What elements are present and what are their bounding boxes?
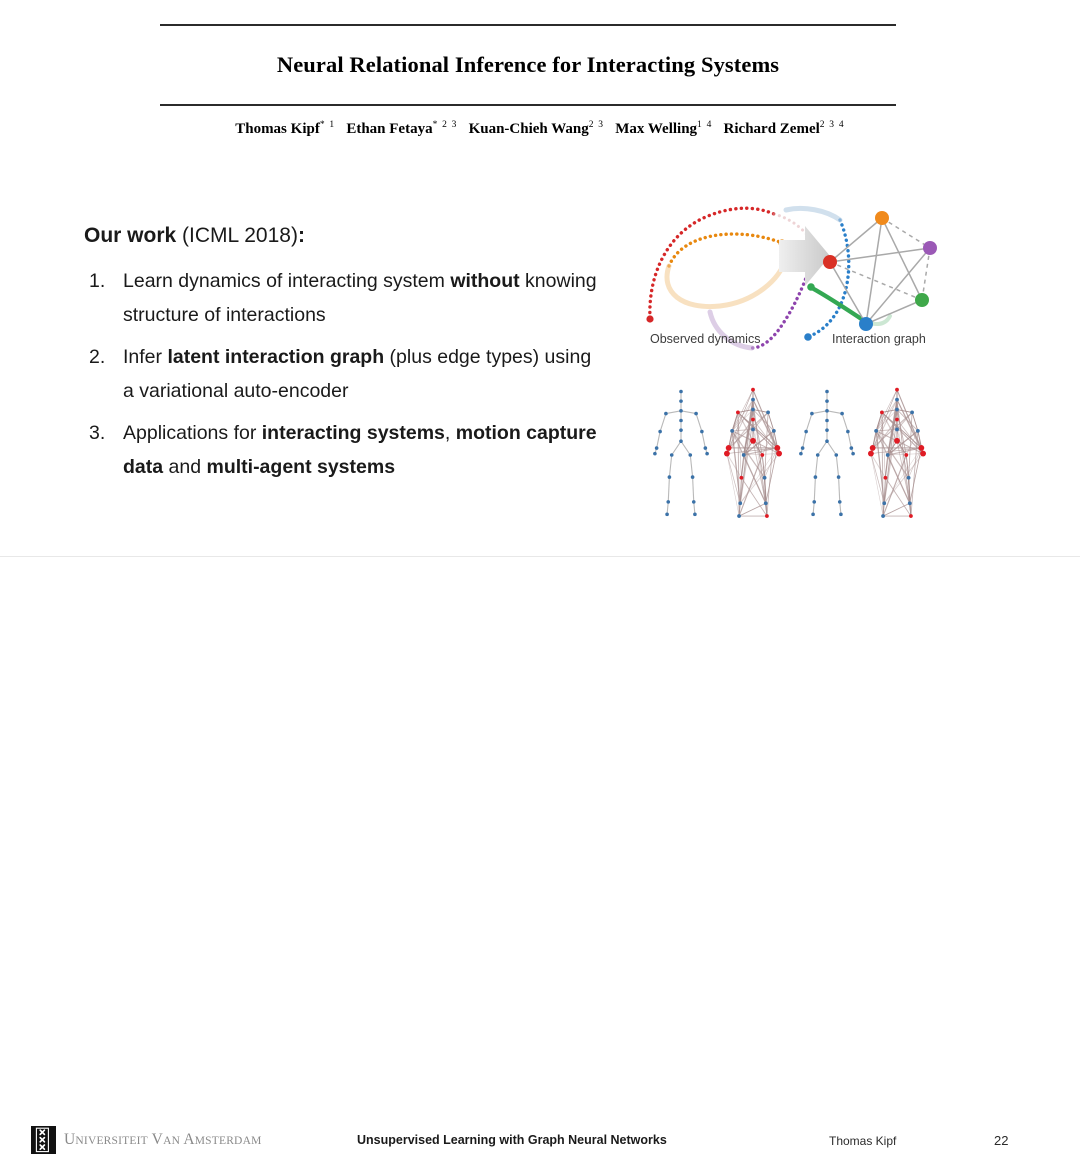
author-name: Kuan-Chieh Wang: [469, 121, 589, 137]
mocap-joint: [870, 445, 876, 451]
mocap-joint: [916, 429, 920, 433]
list-item-emphasis: latent interaction graph: [167, 346, 384, 368]
mocap-joint: [894, 438, 900, 444]
paper-header-block: Neural Relational Inference for Interact…: [160, 24, 896, 106]
mocap-joint: [751, 388, 755, 392]
list-item-text: Learn dynamics of interacting system: [123, 270, 450, 292]
mocap-bone: [815, 455, 817, 477]
mocap-joint: [679, 409, 683, 413]
mocap-joint: [874, 429, 878, 433]
mocap-joint: [765, 514, 769, 518]
mocap-joint: [692, 500, 696, 504]
mocap-joint: [700, 430, 704, 434]
mocap-joint: [740, 476, 744, 480]
graph-node-blue: [859, 317, 873, 331]
mocap-bone: [813, 502, 814, 514]
trajectory-green: [812, 288, 866, 322]
mocap-joint: [751, 398, 755, 402]
author-name: Ethan Fetaya: [346, 121, 432, 137]
mocap-bone: [668, 477, 669, 502]
list-item-text: ,: [445, 422, 456, 444]
mocap-bone: [839, 477, 840, 502]
mocap-joint: [825, 409, 829, 413]
mocap-skeleton: [799, 390, 855, 516]
mocap-joint: [907, 476, 911, 480]
graph-node-orange: [875, 211, 889, 225]
trajectory-green-endpoint: [807, 283, 815, 291]
mocap-joint: [840, 412, 844, 416]
mocap-joint: [850, 446, 854, 450]
graph-edge-solid: [882, 218, 922, 300]
trajectory-orange: [669, 234, 780, 266]
mocap-bone: [660, 414, 666, 432]
content-column-left: Our work (ICML 2018): 1.Learn dynamics o…: [84, 224, 604, 493]
mocap-joint: [811, 513, 815, 517]
list-item: 3.Applications for interacting systems, …: [84, 417, 604, 484]
footer-deck-title: Unsupervised Learning with Graph Neural …: [357, 1133, 667, 1147]
figure-bottom-svg: [646, 380, 936, 532]
mocap-bone: [827, 441, 836, 455]
uva-wordmark-part: U: [64, 1131, 75, 1148]
graph-edge-solid: [866, 300, 922, 324]
mocap-bone: [806, 414, 812, 432]
author-affiliation-marks: * 1: [320, 120, 335, 130]
mocap-joint: [764, 501, 768, 505]
our-work-bold: Our work: [84, 224, 176, 247]
mocap-joint: [846, 430, 850, 434]
mocap-bone: [690, 455, 692, 477]
mocap-graph-edge: [732, 429, 753, 430]
mocap-joint: [868, 451, 874, 457]
mocap-joint: [766, 411, 770, 415]
mocap-joint: [908, 501, 912, 505]
uva-wordmark-part: A: [180, 1131, 195, 1148]
mocap-joint: [691, 475, 695, 479]
points-list: 1.Learn dynamics of interacting system w…: [84, 265, 604, 484]
mocap-bone: [818, 441, 827, 455]
mocap-joint: [895, 398, 899, 402]
mocap-joint: [658, 430, 662, 434]
list-item-text: and: [163, 456, 206, 478]
mocap-joint: [653, 452, 657, 456]
observed-dynamics-trajectories: [646, 208, 890, 348]
mocap-joint: [895, 428, 899, 432]
author-entry: Ethan Fetaya* 2 3: [346, 121, 457, 137]
mocap-joint: [763, 476, 767, 480]
mocap-joint: [751, 418, 755, 422]
mocap-joint: [751, 428, 755, 432]
mocap-joint: [694, 412, 698, 416]
mocap-joint: [904, 453, 908, 457]
mocap-joint: [774, 445, 780, 451]
list-item: 1.Learn dynamics of interacting system w…: [84, 265, 604, 332]
author-name: Richard Zemel: [724, 121, 820, 137]
mocap-joint: [851, 452, 855, 456]
author-affiliation-marks: 2 3: [589, 120, 604, 130]
mocap-joint: [909, 514, 913, 518]
mocap-joint: [825, 399, 829, 403]
mocap-joint: [776, 451, 782, 457]
mocap-joint: [910, 411, 914, 415]
mocap-joint: [839, 513, 843, 517]
uva-logo-wordmark: UNIVERSITEIT VAN AMSTERDAM: [64, 1131, 262, 1149]
graph-node-purple: [923, 241, 937, 255]
trajectory-blue: [810, 220, 849, 336]
mocap-joint: [724, 451, 730, 457]
header-rule-bottom: [160, 104, 896, 106]
mocap-joint: [810, 412, 814, 416]
trajectory-red: [650, 208, 774, 318]
mocap-joint: [812, 500, 816, 504]
mocap-joint: [799, 452, 803, 456]
mocap-joint: [665, 513, 669, 517]
mocap-joint: [838, 500, 842, 504]
uva-logo-icon: [31, 1126, 56, 1154]
our-work-venue: (ICML 2018): [176, 224, 298, 247]
mocap-joint: [679, 428, 683, 432]
mocap-bone: [702, 432, 705, 449]
mocap-bone: [694, 502, 695, 514]
author-name: Max Welling: [615, 121, 697, 137]
uva-wordmark-part: V: [148, 1131, 163, 1148]
mocap-bone: [848, 432, 851, 449]
author-entry: Max Welling1 4: [615, 121, 712, 137]
authors-line: Thomas Kipf* 1Ethan Fetaya* 2 3Kuan-Chie…: [0, 120, 1080, 138]
mocap-bone: [814, 477, 815, 502]
footer-page-number: 22: [994, 1133, 1008, 1148]
footer-bar: UNIVERSITEIT VAN AMSTERDAM Unsupervised …: [0, 557, 1080, 608]
mocap-bone: [840, 502, 841, 514]
mocap-joint: [666, 500, 670, 504]
mocap-joint: [679, 419, 683, 423]
mocap-interaction-graph: [724, 388, 782, 518]
mocap-bone: [836, 455, 838, 477]
mocap-joint: [705, 452, 709, 456]
list-item-emphasis: multi-agent systems: [206, 456, 395, 478]
mocap-joint: [679, 399, 683, 403]
mocap-bone: [657, 432, 660, 449]
list-item-emphasis: interacting systems: [262, 422, 445, 444]
list-item-marker: 2.: [89, 341, 105, 375]
mocap-joint: [825, 390, 829, 394]
author-entry: Richard Zemel2 3 4: [724, 121, 845, 137]
mocap-joint: [801, 446, 805, 450]
list-item-text: Applications for: [123, 422, 262, 444]
mocap-bone: [681, 441, 690, 455]
mocap-joint: [825, 439, 829, 443]
mocap-joint: [895, 418, 899, 422]
mocap-joint: [880, 411, 884, 415]
mocap-joint: [825, 419, 829, 423]
mocap-joint: [760, 453, 764, 457]
uva-wordmark-part: MSTERDAM: [195, 1135, 262, 1147]
mocap-joint: [726, 445, 732, 451]
our-work-colon: :: [298, 224, 305, 247]
mocap-joint: [804, 430, 808, 434]
mocap-joint: [814, 475, 818, 479]
mocap-joint: [693, 513, 697, 517]
mocap-joint: [688, 453, 692, 457]
mocap-joint: [738, 501, 742, 505]
mocap-joint: [730, 429, 734, 433]
mocap-joint: [886, 453, 890, 457]
mocap-joint: [751, 408, 755, 412]
trajectory-red-endpoint: [646, 315, 653, 322]
mocap-joint: [920, 451, 926, 457]
mocap-joint: [664, 412, 668, 416]
author-affiliation-marks: 2 3 4: [820, 120, 845, 130]
graph-node-green: [915, 293, 929, 307]
caption-observed-dynamics: Observed dynamics: [650, 332, 760, 346]
right-arrow-icon: [779, 226, 830, 286]
graph-edge-dashed: [830, 262, 922, 300]
mocap-joint: [679, 439, 683, 443]
uva-crest-icon: [31, 1126, 56, 1154]
mocap-joint: [655, 446, 659, 450]
trajectory-blue-tail: [786, 208, 840, 220]
mocap-joint: [742, 453, 746, 457]
mocap-joint: [668, 475, 672, 479]
mocap-joint: [895, 388, 899, 392]
mocap-graph-edge: [876, 429, 897, 430]
mocap-joint: [816, 453, 820, 457]
graph-node-red: [823, 255, 837, 269]
mocap-bone: [812, 411, 827, 414]
mocap-bone: [827, 411, 842, 414]
mocap-joint: [834, 453, 838, 457]
mocap-joint: [679, 390, 683, 394]
caption-interaction-graph: Interaction graph: [832, 332, 926, 346]
mocap-joint: [882, 501, 886, 505]
mocap-joint: [670, 453, 674, 457]
mocap-joint: [895, 408, 899, 412]
mocap-joint: [918, 445, 924, 451]
mocap-bone: [696, 414, 702, 432]
uva-wordmark-part: NIVERSITEIT: [75, 1135, 147, 1147]
trajectory-blue-endpoint: [804, 333, 812, 341]
mocap-bone: [666, 411, 681, 414]
mocap-joint: [704, 446, 708, 450]
author-affiliation-marks: 1 4: [697, 120, 712, 130]
mocap-bone: [681, 411, 696, 414]
mocap-joint: [737, 514, 741, 518]
list-item: 2.Infer latent interaction graph (plus e…: [84, 341, 604, 408]
mocap-bone: [693, 477, 694, 502]
list-item-emphasis: without: [450, 270, 519, 292]
author-name: Thomas Kipf: [235, 121, 320, 137]
page-title: Neural Relational Inference for Interact…: [160, 26, 896, 104]
mocap-joint: [825, 428, 829, 432]
author-entry: Kuan-Chieh Wang2 3: [469, 121, 605, 137]
mocap-joint: [750, 438, 756, 444]
mocap-bone: [842, 414, 848, 432]
mocap-bone: [672, 441, 681, 455]
author-entry: Thomas Kipf* 1: [235, 121, 335, 137]
trajectory-orange-tail: [667, 258, 786, 307]
mocap-joint: [881, 514, 885, 518]
mocap-joint: [772, 429, 776, 433]
footer-author: Thomas Kipf: [829, 1134, 896, 1148]
list-item-marker: 1.: [89, 265, 105, 299]
mocap-bone: [667, 502, 668, 514]
mocap-skeleton: [653, 390, 709, 516]
author-affiliation-marks: * 2 3: [433, 120, 458, 130]
mocap-joint: [884, 476, 888, 480]
uva-wordmark-part: AN: [163, 1135, 180, 1147]
list-item-text: Infer: [123, 346, 167, 368]
mocap-joint: [736, 411, 740, 415]
mocap-interaction-graph: [868, 388, 926, 518]
mocap-joint: [837, 475, 841, 479]
our-work-heading: Our work (ICML 2018):: [84, 224, 604, 248]
mocap-bone: [669, 455, 671, 477]
mocap-bone: [803, 432, 806, 449]
figure-motion-capture: [646, 380, 936, 532]
list-item-marker: 3.: [89, 417, 105, 451]
